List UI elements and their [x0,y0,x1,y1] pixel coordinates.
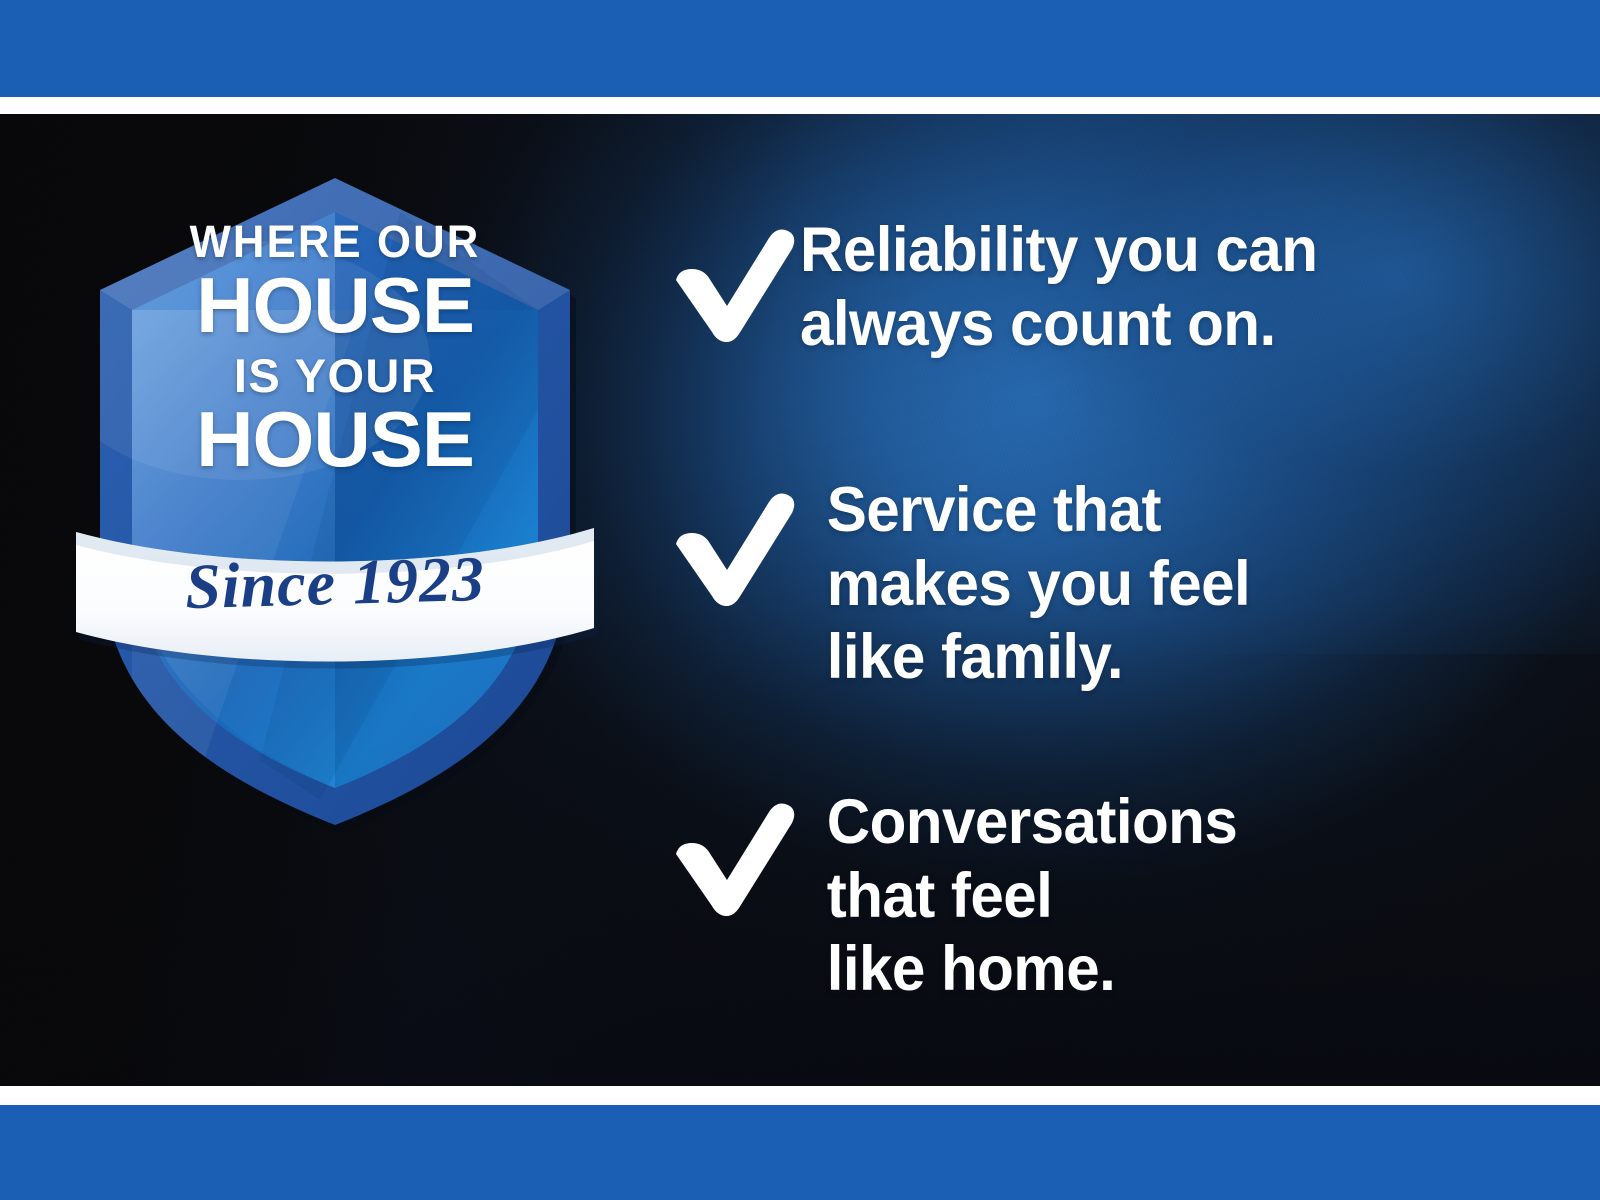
bottom-brand-bar [0,1105,1600,1200]
list-item-line: makes you feel [827,548,1250,622]
list-item-line: like family. [827,621,1250,695]
list-item-line: Conversations [827,786,1237,860]
promo-banner: WHERE OUR HOUSE IS YOUR HOUSE Since 1923… [0,0,1600,1200]
benefits-checklist: Reliability you can always count on. Ser… [665,114,1565,1086]
list-item-line: always count on. [800,288,1317,362]
check-icon [665,214,800,342]
shield-logo: WHERE OUR HOUSE IS YOUR HOUSE Since 1923 [70,160,600,840]
list-item-text: Reliability you can always count on. [800,214,1317,361]
list-item: Reliability you can always count on. [665,214,1342,361]
list-item-text: Service that makes you feel like family. [800,474,1250,695]
check-icon [665,786,800,916]
bottom-white-rule [0,1086,1600,1105]
top-brand-bar [0,0,1600,97]
top-white-rule [0,97,1600,114]
list-item: Conversations that feel like home. [665,786,1258,1007]
list-item-line: that feel [827,860,1237,934]
list-item-line: Reliability you can [800,214,1317,288]
list-item: Service that makes you feel like family. [665,474,1271,695]
list-item-line: like home. [827,933,1237,1007]
check-icon [665,474,800,606]
list-item-text: Conversations that feel like home. [800,786,1237,1007]
list-item-line: Service that [827,474,1250,548]
